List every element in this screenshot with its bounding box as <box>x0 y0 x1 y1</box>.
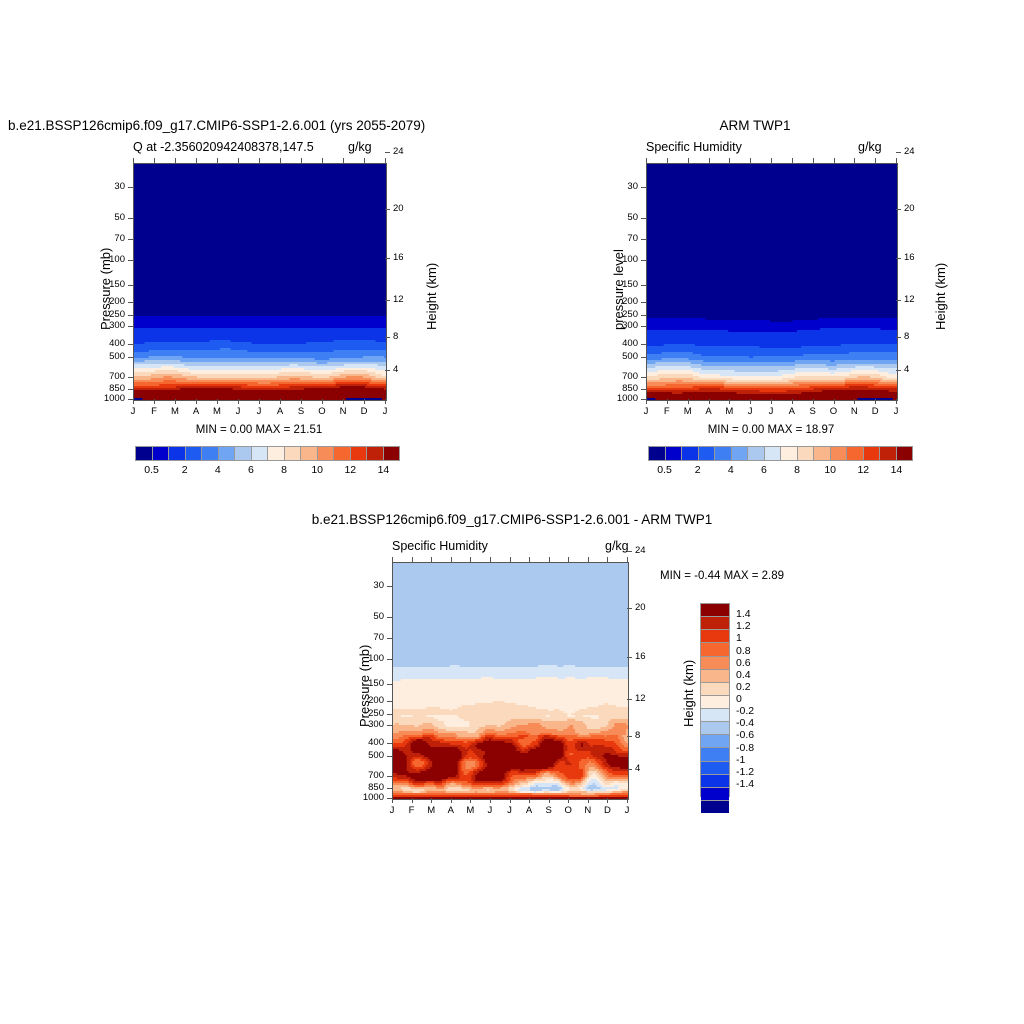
obs-mtick-top[interactable] <box>667 158 668 163</box>
colorbar-label[interactable]: 0 <box>736 693 770 705</box>
obs-mtick-top[interactable] <box>834 158 835 163</box>
obs-mlabel[interactable]: D <box>867 406 883 417</box>
obs-mtick-top[interactable] <box>792 158 793 163</box>
colorbar-label[interactable]: 4 <box>715 464 747 476</box>
colorbar-swatch[interactable] <box>814 447 831 460</box>
colorbar-swatch[interactable] <box>701 696 729 709</box>
colorbar-swatch[interactable] <box>235 447 252 460</box>
model-mlabel[interactable]: M <box>209 406 225 417</box>
obs-htick[interactable] <box>896 337 901 338</box>
model-mlabel[interactable]: A <box>188 406 204 417</box>
colorbar-swatch[interactable] <box>318 447 335 460</box>
obs-mlabel[interactable]: M <box>680 406 696 417</box>
colorbar-swatch[interactable] <box>781 447 798 460</box>
diff-mlabel[interactable]: A <box>521 805 537 816</box>
colorbar-swatch[interactable] <box>847 447 864 460</box>
model-plabel[interactable]: 200 <box>91 296 125 307</box>
model-ptick[interactable] <box>128 187 133 188</box>
diff-mtick[interactable] <box>588 798 589 803</box>
model-mtick[interactable] <box>175 399 176 404</box>
model-htick[interactable] <box>385 300 390 301</box>
diff-plabel[interactable]: 1000 <box>350 792 384 803</box>
diff-mtick-top[interactable] <box>431 557 432 562</box>
obs-mtick[interactable] <box>875 399 876 404</box>
colorbar-label[interactable]: -0.2 <box>736 705 770 717</box>
model-mtick[interactable] <box>196 399 197 404</box>
obs-mtick-top[interactable] <box>729 158 730 163</box>
colorbar-label[interactable]: 12 <box>847 464 879 476</box>
model-mtick[interactable] <box>133 399 134 404</box>
obs-mlabel[interactable]: A <box>701 406 717 417</box>
obs-hlabel[interactable]: 16 <box>904 252 928 263</box>
diff-hlabel[interactable]: 12 <box>635 693 659 704</box>
obs-mtick-top[interactable] <box>854 158 855 163</box>
obs-hlabel[interactable]: 4 <box>904 364 928 375</box>
colorbar-swatch[interactable] <box>798 447 815 460</box>
obs-plabel[interactable]: 400 <box>604 338 638 349</box>
colorbar-swatch[interactable] <box>186 447 203 460</box>
model-mtick-top[interactable] <box>385 158 386 163</box>
diff-mtick[interactable] <box>431 798 432 803</box>
diff-mlabel[interactable]: J <box>482 805 498 816</box>
diff-plabel[interactable]: 150 <box>350 678 384 689</box>
colorbar-swatch[interactable] <box>334 447 351 460</box>
obs-ptick[interactable] <box>641 285 646 286</box>
diff-mlabel[interactable]: J <box>502 805 518 816</box>
diff-mlabel[interactable]: J <box>384 805 400 816</box>
obs-htick[interactable] <box>896 300 901 301</box>
model-mtick[interactable] <box>259 399 260 404</box>
colorbar-swatch[interactable] <box>831 447 848 460</box>
model-mtick-top[interactable] <box>301 158 302 163</box>
model-mlabel[interactable]: M <box>167 406 183 417</box>
colorbar-label[interactable]: 4 <box>202 464 234 476</box>
obs-mtick[interactable] <box>896 399 897 404</box>
obs-mtick-top[interactable] <box>771 158 772 163</box>
model-htick[interactable] <box>385 370 390 371</box>
diff-plabel[interactable]: 30 <box>350 580 384 591</box>
obs-mtick[interactable] <box>646 399 647 404</box>
colorbar-swatch[interactable] <box>701 722 729 735</box>
obs-mlabel[interactable]: F <box>659 406 675 417</box>
model-plabel[interactable]: 30 <box>91 181 125 192</box>
obs-ptick[interactable] <box>641 389 646 390</box>
colorbar-label[interactable]: -1.4 <box>736 778 770 790</box>
diff-mlabel[interactable]: A <box>443 805 459 816</box>
obs-mlabel[interactable]: N <box>846 406 862 417</box>
colorbar-swatch[interactable] <box>351 447 368 460</box>
model-mtick-top[interactable] <box>364 158 365 163</box>
model-mtick-top[interactable] <box>133 158 134 163</box>
model-hlabel[interactable]: 16 <box>393 252 417 263</box>
model-ptick[interactable] <box>128 285 133 286</box>
obs-ptick[interactable] <box>641 377 646 378</box>
colorbar-label[interactable]: 14 <box>880 464 912 476</box>
colorbar-swatch[interactable] <box>701 762 729 775</box>
model-mlabel[interactable]: J <box>230 406 246 417</box>
colorbar-label[interactable]: 10 <box>301 464 333 476</box>
obs-mlabel[interactable]: A <box>784 406 800 417</box>
model-hlabel[interactable]: 8 <box>393 331 417 342</box>
model-plabel[interactable]: 300 <box>91 320 125 331</box>
diff-mlabel[interactable]: N <box>580 805 596 816</box>
colorbar-label[interactable]: 1.2 <box>736 620 770 632</box>
diff-ptick[interactable] <box>387 725 392 726</box>
model-plabel[interactable]: 70 <box>91 233 125 244</box>
model-htick[interactable] <box>385 152 390 153</box>
model-mtick[interactable] <box>364 399 365 404</box>
obs-htick[interactable] <box>896 258 901 259</box>
diff-plabel[interactable]: 250 <box>350 708 384 719</box>
diff-mtick[interactable] <box>510 798 511 803</box>
colorbar-label[interactable]: 14 <box>367 464 399 476</box>
model-htick[interactable] <box>385 337 390 338</box>
diff-plabel[interactable]: 500 <box>350 750 384 761</box>
model-mtick[interactable] <box>280 399 281 404</box>
colorbar-label[interactable]: 8 <box>268 464 300 476</box>
model-ptick[interactable] <box>128 357 133 358</box>
colorbar-swatch[interactable] <box>765 447 782 460</box>
diff-ptick[interactable] <box>387 776 392 777</box>
obs-mlabel[interactable]: O <box>826 406 842 417</box>
model-mtick-top[interactable] <box>343 158 344 163</box>
diff-mtick-top[interactable] <box>588 557 589 562</box>
model-mtick-top[interactable] <box>280 158 281 163</box>
obs-plabel[interactable]: 100 <box>604 254 638 265</box>
obs-mtick[interactable] <box>750 399 751 404</box>
diff-mtick-top[interactable] <box>529 557 530 562</box>
obs-mtick[interactable] <box>709 399 710 404</box>
obs-plabel[interactable]: 200 <box>604 296 638 307</box>
obs-hlabel[interactable]: 8 <box>904 331 928 342</box>
diff-mtick[interactable] <box>470 798 471 803</box>
model-plabel[interactable]: 100 <box>91 254 125 265</box>
colorbar-label[interactable]: -0.4 <box>736 717 770 729</box>
diff-mlabel[interactable]: M <box>462 805 478 816</box>
colorbar-swatch[interactable] <box>701 643 729 656</box>
colorbar-swatch[interactable] <box>666 447 683 460</box>
colorbar-label[interactable]: 8 <box>781 464 813 476</box>
diff-mtick[interactable] <box>451 798 452 803</box>
diff-ptick[interactable] <box>387 788 392 789</box>
model-mlabel[interactable]: N <box>335 406 351 417</box>
obs-mtick[interactable] <box>729 399 730 404</box>
obs-mtick[interactable] <box>834 399 835 404</box>
diff-ptick[interactable] <box>387 659 392 660</box>
colorbar-swatch[interactable] <box>701 775 729 788</box>
obs-plabel[interactable]: 300 <box>604 320 638 331</box>
obs-mtick-top[interactable] <box>896 158 897 163</box>
obs-htick[interactable] <box>896 370 901 371</box>
model-mlabel[interactable]: S <box>293 406 309 417</box>
diff-plabel[interactable]: 200 <box>350 695 384 706</box>
model-mtick[interactable] <box>322 399 323 404</box>
model-plabel[interactable]: 250 <box>91 309 125 320</box>
colorbar-swatch[interactable] <box>219 447 236 460</box>
colorbar-swatch[interactable] <box>367 447 384 460</box>
model-mlabel[interactable]: D <box>356 406 372 417</box>
model-ptick[interactable] <box>128 218 133 219</box>
model-ptick[interactable] <box>128 302 133 303</box>
colorbar-swatch[interactable] <box>897 447 913 460</box>
colorbar-swatch[interactable] <box>169 447 186 460</box>
model-mtick[interactable] <box>343 399 344 404</box>
model-mtick-top[interactable] <box>238 158 239 163</box>
model-mtick[interactable] <box>217 399 218 404</box>
colorbar-swatch[interactable] <box>649 447 666 460</box>
colorbar-label[interactable]: 0.6 <box>736 657 770 669</box>
diff-ptick[interactable] <box>387 617 392 618</box>
colorbar-label[interactable]: 2 <box>682 464 714 476</box>
colorbar-label[interactable]: 10 <box>814 464 846 476</box>
diff-ptick[interactable] <box>387 586 392 587</box>
diff-mtick-top[interactable] <box>392 557 393 562</box>
obs-plabel[interactable]: 700 <box>604 371 638 382</box>
colorbar-label[interactable]: 6 <box>748 464 780 476</box>
obs-mlabel[interactable]: J <box>742 406 758 417</box>
colorbar-label[interactable]: 1.4 <box>736 608 770 620</box>
colorbar-swatch[interactable] <box>301 447 318 460</box>
obs-mtick[interactable] <box>813 399 814 404</box>
diff-plabel[interactable]: 700 <box>350 770 384 781</box>
model-ptick[interactable] <box>128 377 133 378</box>
obs-ptick[interactable] <box>641 357 646 358</box>
obs-ptick[interactable] <box>641 315 646 316</box>
colorbar-swatch[interactable] <box>268 447 285 460</box>
obs-mtick[interactable] <box>792 399 793 404</box>
model-mtick-top[interactable] <box>154 158 155 163</box>
obs-mtick-top[interactable] <box>875 158 876 163</box>
diff-hlabel[interactable]: 16 <box>635 651 659 662</box>
model-mlabel[interactable]: F <box>146 406 162 417</box>
diff-mtick-top[interactable] <box>510 557 511 562</box>
colorbar-label[interactable]: -1 <box>736 754 770 766</box>
obs-mlabel[interactable]: J <box>638 406 654 417</box>
colorbar-label[interactable]: 2 <box>169 464 201 476</box>
obs-plabel[interactable]: 500 <box>604 351 638 362</box>
diff-mtick[interactable] <box>490 798 491 803</box>
diff-hlabel[interactable]: 20 <box>635 602 659 613</box>
model-mtick-top[interactable] <box>259 158 260 163</box>
model-mtick-top[interactable] <box>217 158 218 163</box>
diff-mtick[interactable] <box>607 798 608 803</box>
diff-ptick[interactable] <box>387 701 392 702</box>
diff-mtick-top[interactable] <box>451 557 452 562</box>
model-mtick[interactable] <box>301 399 302 404</box>
model-plabel[interactable]: 400 <box>91 338 125 349</box>
colorbar-swatch[interactable] <box>701 604 729 617</box>
obs-mlabel[interactable]: S <box>805 406 821 417</box>
colorbar-swatch[interactable] <box>136 447 153 460</box>
diff-mlabel[interactable]: J <box>619 805 635 816</box>
model-mtick-top[interactable] <box>175 158 176 163</box>
colorbar-label[interactable]: 6 <box>235 464 267 476</box>
model-ptick[interactable] <box>128 389 133 390</box>
obs-htick[interactable] <box>896 152 901 153</box>
model-plabel[interactable]: 500 <box>91 351 125 362</box>
model-htick[interactable] <box>385 209 390 210</box>
diff-ptick[interactable] <box>387 743 392 744</box>
diff-ptick[interactable] <box>387 714 392 715</box>
diff-mtick-top[interactable] <box>470 557 471 562</box>
model-plabel[interactable]: 1000 <box>91 393 125 404</box>
colorbar-swatch[interactable] <box>701 617 729 630</box>
colorbar-swatch[interactable] <box>732 447 749 460</box>
diff-mtick[interactable] <box>549 798 550 803</box>
obs-mtick-top[interactable] <box>813 158 814 163</box>
diff-mtick-top[interactable] <box>549 557 550 562</box>
diff-mtick[interactable] <box>568 798 569 803</box>
obs-plabel[interactable]: 50 <box>604 212 638 223</box>
obs-mtick-top[interactable] <box>709 158 710 163</box>
colorbar-label[interactable]: 1 <box>736 632 770 644</box>
diff-mlabel[interactable]: M <box>423 805 439 816</box>
obs-mtick[interactable] <box>667 399 668 404</box>
colorbar-label[interactable]: 0.5 <box>136 464 168 476</box>
obs-mlabel[interactable]: J <box>888 406 904 417</box>
colorbar-swatch[interactable] <box>701 630 729 643</box>
diff-mtick[interactable] <box>412 798 413 803</box>
obs-ptick[interactable] <box>641 326 646 327</box>
diff-plabel[interactable]: 100 <box>350 653 384 664</box>
diff-htick[interactable] <box>627 736 632 737</box>
colorbar-label[interactable]: -1.2 <box>736 766 770 778</box>
diff-mtick-top[interactable] <box>627 557 628 562</box>
model-mtick-top[interactable] <box>322 158 323 163</box>
colorbar-swatch[interactable] <box>682 447 699 460</box>
diff-plabel[interactable]: 300 <box>350 719 384 730</box>
diff-mtick[interactable] <box>529 798 530 803</box>
colorbar-label[interactable]: 0.5 <box>649 464 681 476</box>
diff-htick[interactable] <box>627 551 632 552</box>
colorbar-swatch[interactable] <box>701 657 729 670</box>
diff-hlabel[interactable]: 24 <box>635 545 659 556</box>
diff-plabel[interactable]: 400 <box>350 737 384 748</box>
model-mtick-top[interactable] <box>196 158 197 163</box>
model-mlabel[interactable]: A <box>272 406 288 417</box>
model-mlabel[interactable]: J <box>251 406 267 417</box>
diff-mlabel[interactable]: S <box>541 805 557 816</box>
colorbar-swatch[interactable] <box>252 447 269 460</box>
model-ptick[interactable] <box>128 315 133 316</box>
diff-ptick[interactable] <box>387 684 392 685</box>
diff-plabel[interactable]: 50 <box>350 611 384 622</box>
diff-ptick[interactable] <box>387 638 392 639</box>
colorbar-swatch[interactable] <box>153 447 170 460</box>
model-mlabel[interactable]: O <box>314 406 330 417</box>
colorbar-swatch[interactable] <box>701 709 729 722</box>
colorbar-swatch[interactable] <box>701 748 729 761</box>
diff-ptick[interactable] <box>387 756 392 757</box>
obs-mtick[interactable] <box>771 399 772 404</box>
obs-ptick[interactable] <box>641 187 646 188</box>
obs-ptick[interactable] <box>641 239 646 240</box>
diff-mtick[interactable] <box>392 798 393 803</box>
diff-mtick-top[interactable] <box>607 557 608 562</box>
diff-mtick-top[interactable] <box>412 557 413 562</box>
obs-mtick[interactable] <box>854 399 855 404</box>
diff-mtick[interactable] <box>627 798 628 803</box>
diff-mlabel[interactable]: F <box>404 805 420 816</box>
obs-ptick[interactable] <box>641 218 646 219</box>
model-mtick[interactable] <box>154 399 155 404</box>
obs-mlabel[interactable]: J <box>763 406 779 417</box>
model-ptick[interactable] <box>128 260 133 261</box>
colorbar-swatch[interactable] <box>701 670 729 683</box>
diff-htick[interactable] <box>627 699 632 700</box>
colorbar-swatch[interactable] <box>701 683 729 696</box>
obs-hlabel[interactable]: 20 <box>904 203 928 214</box>
colorbar-swatch[interactable] <box>202 447 219 460</box>
diff-mtick-top[interactable] <box>490 557 491 562</box>
diff-mtick-top[interactable] <box>568 557 569 562</box>
model-htick[interactable] <box>385 258 390 259</box>
obs-hlabel[interactable]: 24 <box>904 146 928 157</box>
colorbar-label[interactable]: -0.8 <box>736 742 770 754</box>
colorbar-swatch[interactable] <box>384 447 400 460</box>
colorbar-swatch[interactable] <box>701 735 729 748</box>
model-plabel[interactable]: 150 <box>91 279 125 290</box>
obs-ptick[interactable] <box>641 302 646 303</box>
colorbar-label[interactable]: 12 <box>334 464 366 476</box>
diff-mlabel[interactable]: D <box>599 805 615 816</box>
obs-mtick-top[interactable] <box>750 158 751 163</box>
obs-ptick[interactable] <box>641 260 646 261</box>
obs-plabel[interactable]: 250 <box>604 309 638 320</box>
model-hlabel[interactable]: 12 <box>393 294 417 305</box>
colorbar-swatch[interactable] <box>748 447 765 460</box>
model-ptick[interactable] <box>128 239 133 240</box>
model-mlabel[interactable]: J <box>125 406 141 417</box>
colorbar-swatch[interactable] <box>699 447 716 460</box>
model-mtick[interactable] <box>385 399 386 404</box>
diff-hlabel[interactable]: 4 <box>635 763 659 774</box>
colorbar-label[interactable]: -0.6 <box>736 729 770 741</box>
diff-mlabel[interactable]: O <box>560 805 576 816</box>
diff-htick[interactable] <box>627 608 632 609</box>
obs-mtick[interactable] <box>688 399 689 404</box>
obs-plabel[interactable]: 70 <box>604 233 638 244</box>
model-ptick[interactable] <box>128 344 133 345</box>
diff-plabel[interactable]: 70 <box>350 632 384 643</box>
obs-ptick[interactable] <box>641 344 646 345</box>
diff-hlabel[interactable]: 8 <box>635 730 659 741</box>
obs-hlabel[interactable]: 12 <box>904 294 928 305</box>
model-plabel[interactable]: 50 <box>91 212 125 223</box>
model-ptick[interactable] <box>128 326 133 327</box>
obs-mtick-top[interactable] <box>646 158 647 163</box>
colorbar-swatch[interactable] <box>701 801 729 813</box>
model-mlabel[interactable]: J <box>377 406 393 417</box>
obs-plabel[interactable]: 1000 <box>604 393 638 404</box>
colorbar-swatch[interactable] <box>715 447 732 460</box>
obs-plabel[interactable]: 150 <box>604 279 638 290</box>
diff-htick[interactable] <box>627 657 632 658</box>
obs-mtick-top[interactable] <box>688 158 689 163</box>
colorbar-label[interactable]: 0.4 <box>736 669 770 681</box>
model-hlabel[interactable]: 20 <box>393 203 417 214</box>
model-mtick[interactable] <box>238 399 239 404</box>
diff-htick[interactable] <box>627 769 632 770</box>
model-hlabel[interactable]: 4 <box>393 364 417 375</box>
model-hlabel[interactable]: 24 <box>393 146 417 157</box>
colorbar-label[interactable]: 0.8 <box>736 645 770 657</box>
colorbar-swatch[interactable] <box>285 447 302 460</box>
colorbar-swatch[interactable] <box>864 447 881 460</box>
obs-mlabel[interactable]: M <box>721 406 737 417</box>
model-plabel[interactable]: 700 <box>91 371 125 382</box>
colorbar-swatch[interactable] <box>880 447 897 460</box>
